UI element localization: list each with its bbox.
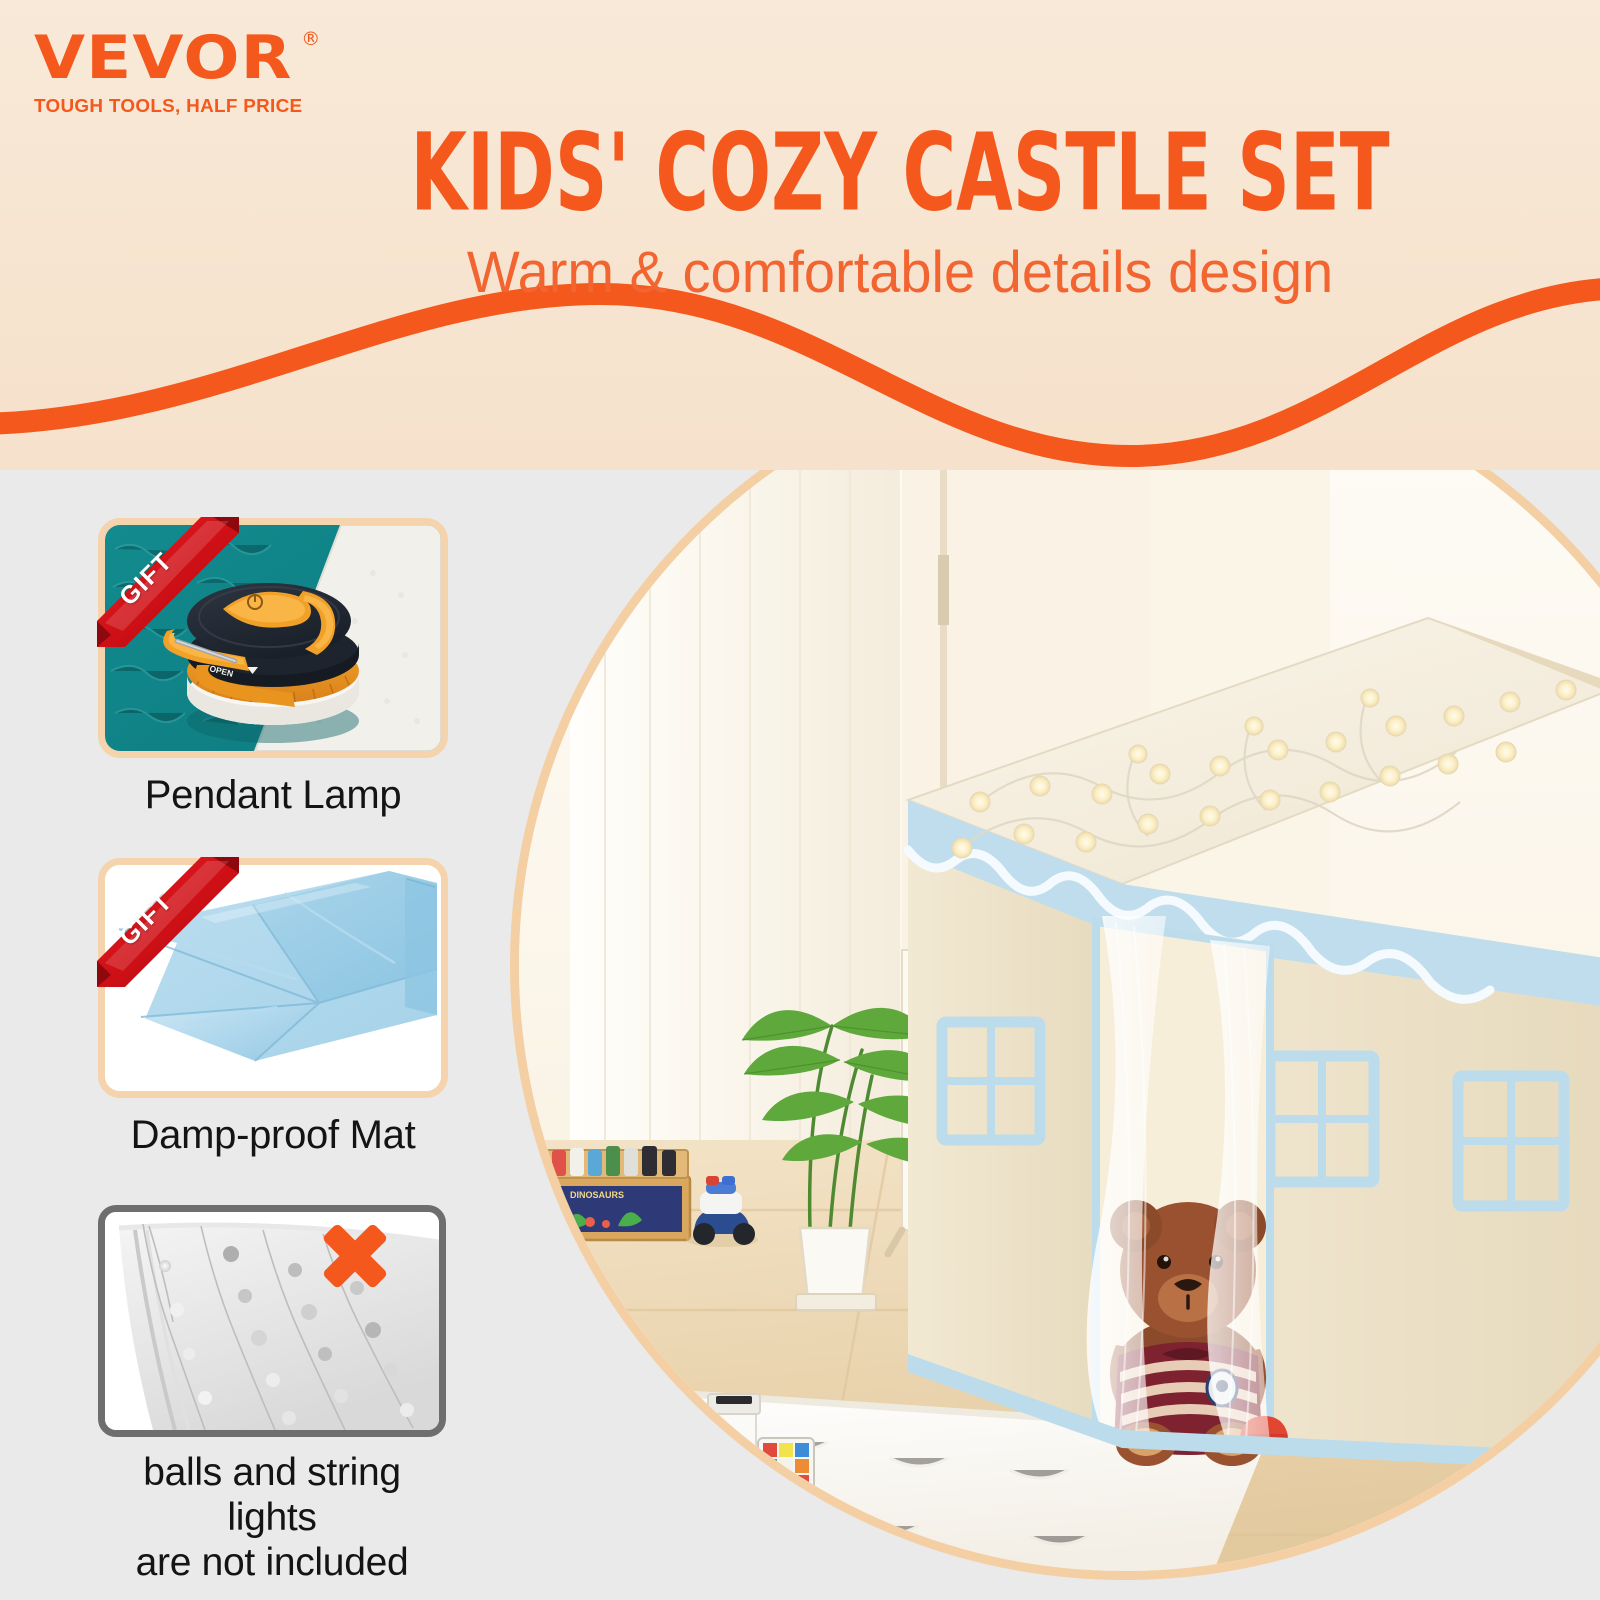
- brand-logo: VEVOR® TOUGH TOOLS, HALF PRICE: [34, 28, 297, 117]
- logo-tagline: TOUGH TOOLS, HALF PRICE: [34, 95, 302, 117]
- logo-wordmark: VEVOR®: [34, 28, 293, 88]
- not-included-label-line1: balls and string lights: [98, 1451, 446, 1541]
- not-included-thumbnail: [98, 1205, 446, 1437]
- hero-photo-ring: NORDIC: [510, 350, 1600, 1580]
- toy-rubiks-cube: [758, 1438, 814, 1494]
- headline-block: KIDS' COZY CASTLE SET Warm & comfortable…: [0, 120, 1600, 304]
- feature-card-pendant-lamp[interactable]: OPEN CLOSE: [98, 518, 448, 818]
- damp-proof-mat-label: Damp-proof Mat: [98, 1112, 448, 1158]
- not-included-image: [105, 1212, 439, 1430]
- hero-photo-image: NORDIC: [510, 350, 1600, 1580]
- not-included-label-line2: are not included: [98, 1541, 446, 1586]
- hero-photo-container: NORDIC: [510, 350, 1600, 1580]
- feature-card-damp-proof-mat[interactable]: GIFT Damp-proof Mat: [98, 858, 448, 1158]
- pendant-lamp-image: OPEN CLOSE: [105, 525, 441, 751]
- damp-proof-mat-image: [105, 865, 441, 1091]
- svg-text:DINOSAURS: DINOSAURS: [570, 1190, 624, 1200]
- pendant-lamp-label: Pendant Lamp: [98, 772, 448, 818]
- registered-mark-icon: ®: [301, 30, 321, 49]
- pendant-lamp-thumbnail: OPEN CLOSE: [98, 518, 448, 758]
- toy-shelf: DINOSAURS: [540, 1146, 690, 1240]
- damp-proof-mat-thumbnail: GIFT: [98, 858, 448, 1098]
- page-subtitle: Warm & comfortable details design: [200, 238, 1600, 306]
- feature-card-not-included[interactable]: balls and string lights are not included: [98, 1205, 446, 1586]
- page-title: KIDS' COZY CASTLE SET: [298, 120, 1502, 227]
